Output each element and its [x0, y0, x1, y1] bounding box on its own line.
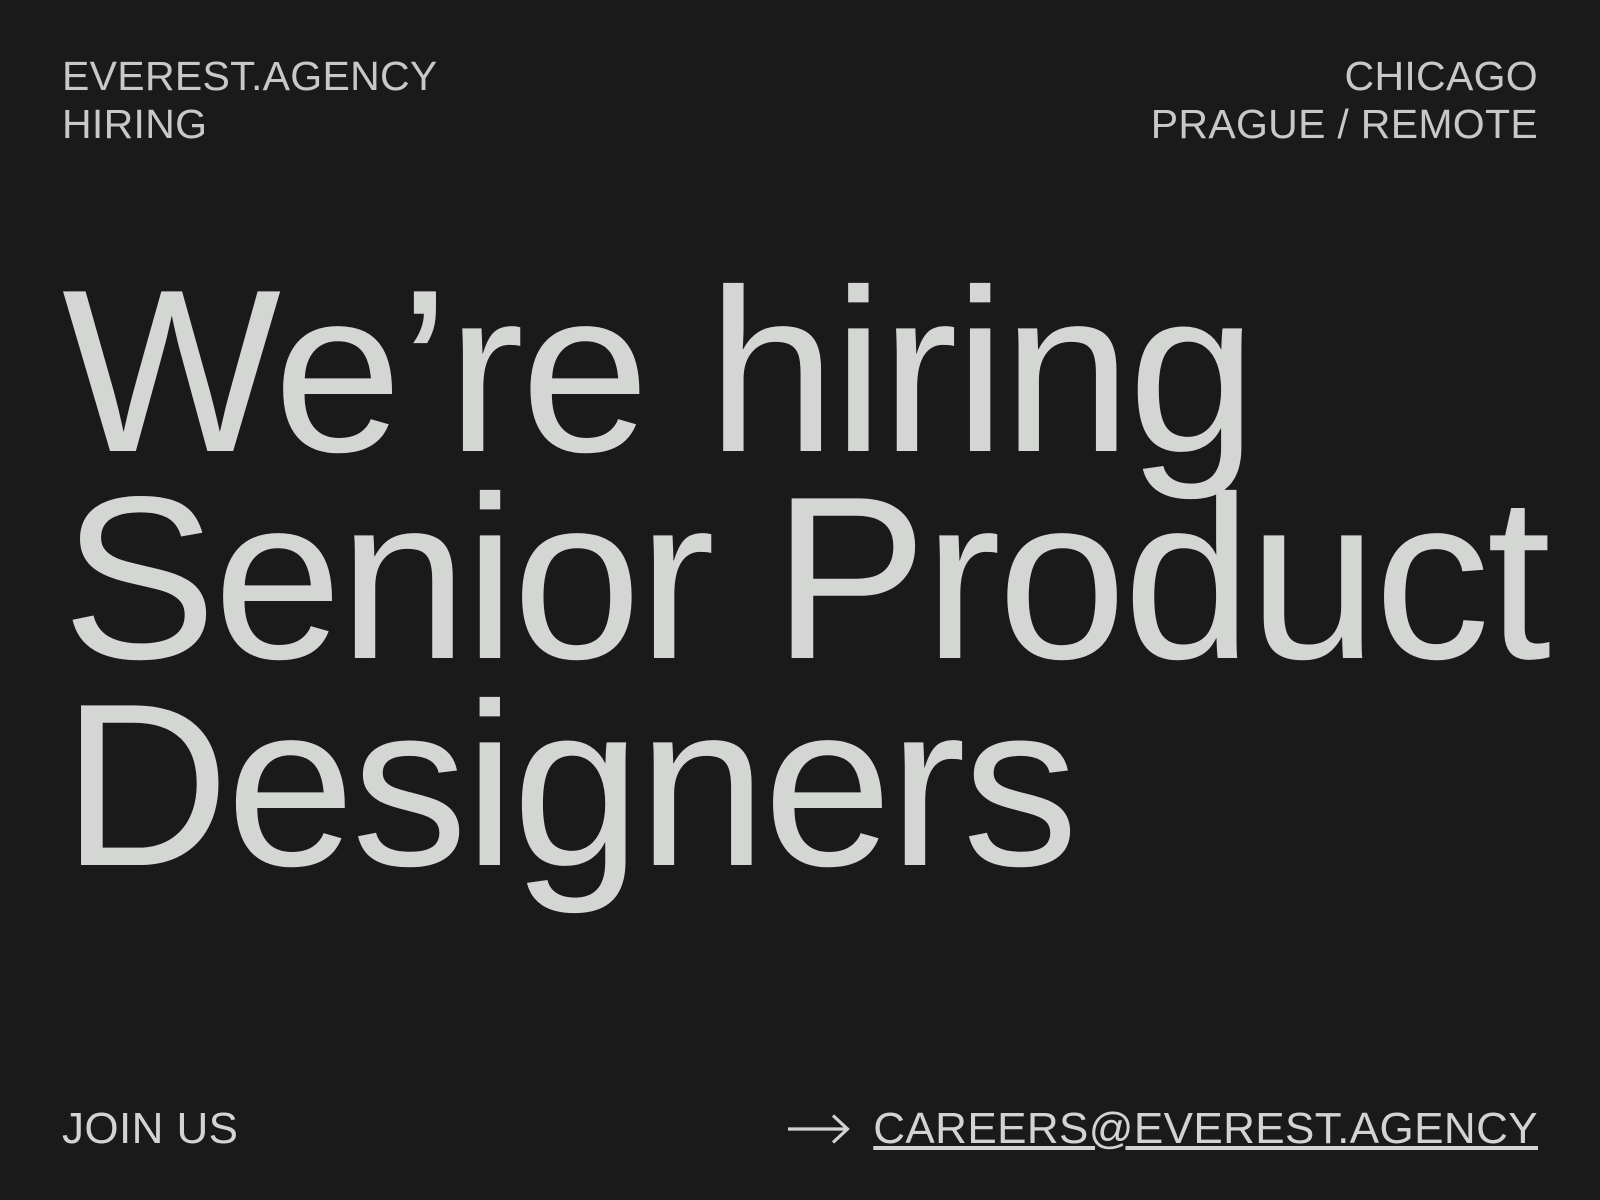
- locations-block: CHICAGO PRAGUE / REMOTE: [1151, 52, 1538, 148]
- arrow-right-icon: [787, 1112, 853, 1146]
- location-secondary: PRAGUE / REMOTE: [1151, 100, 1538, 148]
- poster-header: EVEREST.AGENCY HIRING CHICAGO PRAGUE / R…: [62, 52, 1538, 148]
- hiring-poster: EVEREST.AGENCY HIRING CHICAGO PRAGUE / R…: [0, 0, 1600, 1200]
- poster-footer: JOIN US CAREERS@EVEREST.AGENCY: [62, 1104, 1538, 1154]
- email-address-text: CAREERS@EVEREST.AGENCY: [873, 1104, 1538, 1154]
- brand-subtitle: HIRING: [62, 100, 438, 148]
- location-primary: CHICAGO: [1151, 52, 1538, 100]
- page-title: We’re hiring Senior Product Designers: [62, 268, 1542, 889]
- headline-line-3: Designers: [62, 682, 1542, 889]
- join-us-text: JOIN US: [62, 1104, 238, 1154]
- brand-name: EVEREST.AGENCY: [62, 52, 438, 100]
- headline-line-2: Senior Product: [62, 475, 1542, 682]
- join-us-label: JOIN US: [62, 1104, 238, 1154]
- brand-block: EVEREST.AGENCY HIRING: [62, 52, 438, 148]
- headline-line-1: We’re hiring: [62, 268, 1542, 475]
- email-contact-link[interactable]: CAREERS@EVEREST.AGENCY: [787, 1104, 1538, 1154]
